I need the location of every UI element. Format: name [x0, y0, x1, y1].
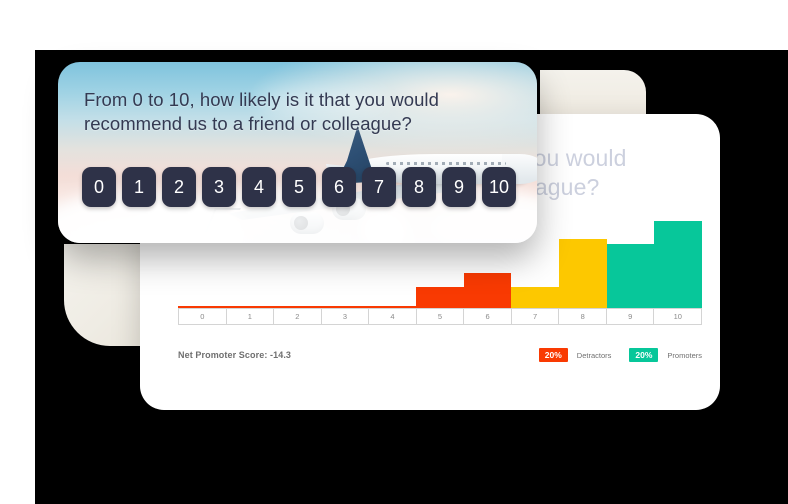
- legend-item-promoters[interactable]: 20% Promoters: [629, 348, 702, 362]
- detractors-label: Detractors: [577, 351, 612, 360]
- scale-option-0[interactable]: 0: [82, 167, 116, 207]
- results-footer: Net Promoter Score: -14.3 20% Detractors…: [178, 347, 702, 363]
- axis-label-0: 0: [179, 309, 227, 324]
- chart-x-axis: 0 1 2 3 4 5 6 7 8 9 10: [178, 308, 702, 325]
- axis-label-9: 9: [607, 309, 655, 324]
- axis-label-4: 4: [369, 309, 417, 324]
- scale-option-7[interactable]: 7: [362, 167, 396, 207]
- survey-card: From 0 to 10, how likely is it that you …: [58, 62, 537, 243]
- bar-7[interactable]: [511, 287, 559, 308]
- screenshot-stage: you would eague? 0 1 2 3 4: [0, 0, 788, 504]
- scale-option-8[interactable]: 8: [402, 167, 436, 207]
- bar-5[interactable]: [416, 287, 464, 308]
- detractors-percent-chip: 20%: [539, 348, 568, 362]
- bar-8[interactable]: [559, 239, 607, 308]
- legend-item-detractors[interactable]: 20% Detractors: [539, 348, 612, 362]
- scale-option-4[interactable]: 4: [242, 167, 276, 207]
- scale-option-3[interactable]: 3: [202, 167, 236, 207]
- chart-legend: 20% Detractors 20% Promoters: [521, 348, 702, 362]
- results-question-ghost: you would eague?: [522, 144, 720, 202]
- axis-label-6: 6: [464, 309, 512, 324]
- axis-label-5: 5: [417, 309, 465, 324]
- decorative-card-left: [64, 244, 146, 346]
- decorative-card-top: [540, 70, 646, 118]
- promoters-percent-chip: 20%: [629, 348, 658, 362]
- axis-label-8: 8: [559, 309, 607, 324]
- bar-9[interactable]: [607, 244, 655, 308]
- axis-label-10: 10: [654, 309, 701, 324]
- axis-label-3: 3: [322, 309, 370, 324]
- axis-label-7: 7: [512, 309, 560, 324]
- axis-label-1: 1: [227, 309, 275, 324]
- bar-6[interactable]: [464, 273, 512, 308]
- bar-10[interactable]: [654, 221, 702, 308]
- scale-option-2[interactable]: 2: [162, 167, 196, 207]
- promoters-label: Promoters: [667, 351, 702, 360]
- scale-option-10[interactable]: 10: [482, 167, 516, 207]
- scale-option-5[interactable]: 5: [282, 167, 316, 207]
- axis-label-2: 2: [274, 309, 322, 324]
- survey-question-text: From 0 to 10, how likely is it that you …: [84, 88, 504, 135]
- scale-option-1[interactable]: 1: [122, 167, 156, 207]
- nps-score-label: Net Promoter Score: -14.3: [178, 350, 291, 360]
- airplane-windows: [386, 162, 506, 165]
- scale-option-6[interactable]: 6: [322, 167, 356, 207]
- scale-option-9[interactable]: 9: [442, 167, 476, 207]
- nps-scale: 0 1 2 3 4 5 6 7 8 9 10: [82, 167, 522, 207]
